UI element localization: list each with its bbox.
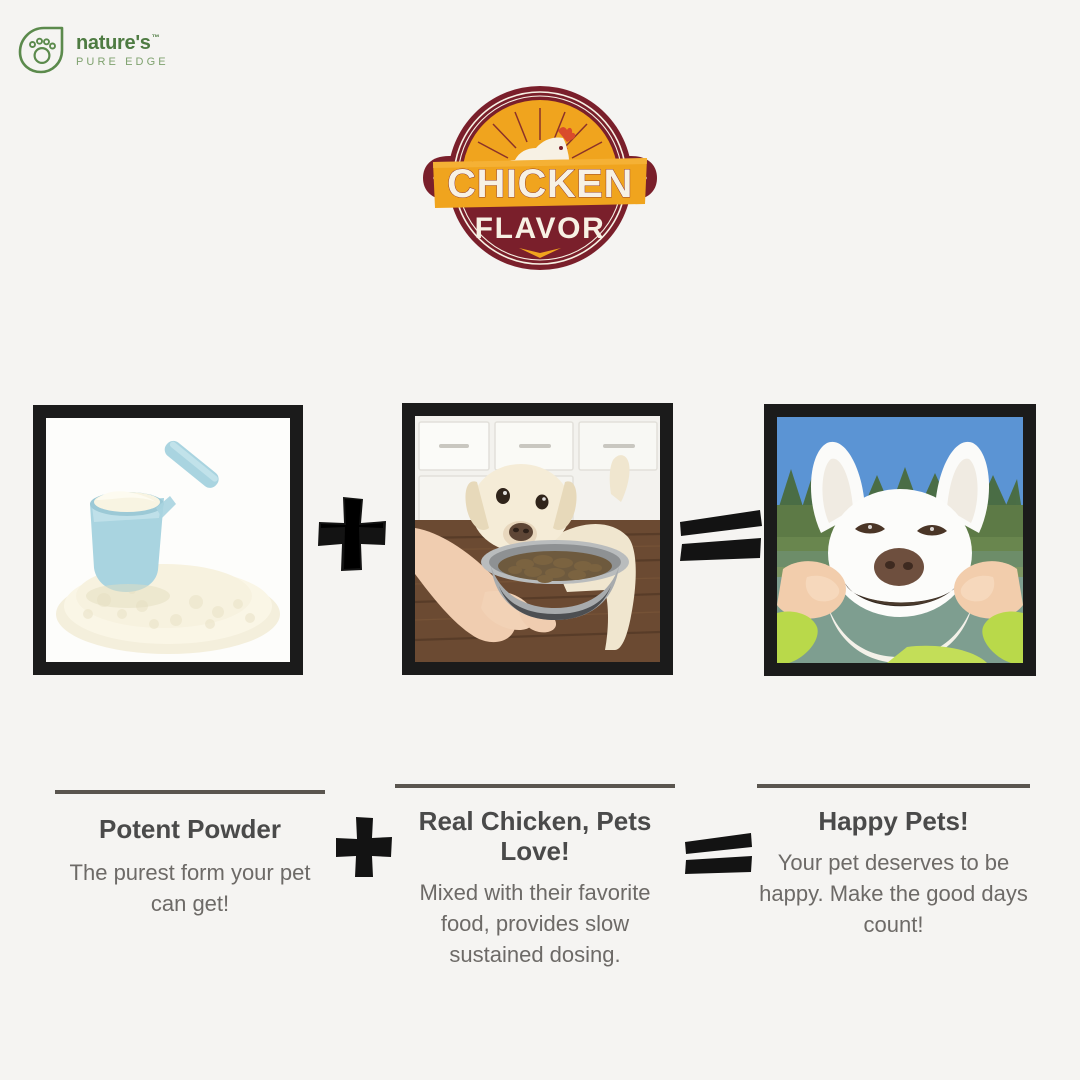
happy-dog-photo (777, 417, 1023, 663)
paw-leaf-icon (16, 24, 66, 74)
badge-line2-text: FLAVOR (475, 212, 606, 245)
brand-subtitle: PURE EDGE (76, 57, 169, 68)
powder-scoop-photo (46, 418, 290, 662)
column-body: Mixed with their favorite food, provides… (395, 878, 675, 970)
brush-plus-icon: + (316, 495, 388, 573)
column-title: Potent Powder (55, 814, 325, 844)
brush-equals-icon: = (676, 506, 764, 566)
column-divider (55, 790, 325, 794)
column-body: The purest form your pet can get! (55, 858, 325, 920)
photo-frame-powder (33, 405, 303, 675)
chicken-flavor-badge: FLAVOR CHICKEN (415, 78, 665, 278)
column-divider (757, 784, 1030, 788)
infographic-page: nature's ™ PURE EDGE (0, 0, 1080, 1080)
column-body: Your pet deserves to be happy. Make the … (757, 848, 1030, 940)
column-title: Happy Pets! (757, 806, 1030, 836)
photo-frame-happy-dog (764, 404, 1036, 676)
caption-column-powder: Potent Powder The purest form your pet c… (55, 790, 325, 920)
caption-column-chicken: Real Chicken, Pets Love! Mixed with thei… (395, 784, 675, 971)
brand-wordmark: nature's ™ PURE EDGE (76, 31, 169, 68)
brand-logo[interactable]: nature's ™ PURE EDGE (16, 24, 169, 74)
brush-equals-icon-caption (682, 830, 754, 878)
caption-column-happy: Happy Pets! Your pet deserves to be happ… (757, 784, 1030, 941)
column-title: Real Chicken, Pets Love! (395, 806, 675, 866)
dog-food-bowl-photo (415, 416, 660, 662)
brush-plus-icon-caption (334, 815, 394, 879)
photo-frame-dog-bowl (402, 403, 673, 675)
brand-name: nature's ™ (76, 33, 169, 53)
brand-name-text: nature's (76, 33, 151, 53)
column-divider (395, 784, 675, 788)
badge-line1-text: CHICKEN (447, 162, 633, 206)
trademark-symbol: ™ (152, 34, 160, 42)
